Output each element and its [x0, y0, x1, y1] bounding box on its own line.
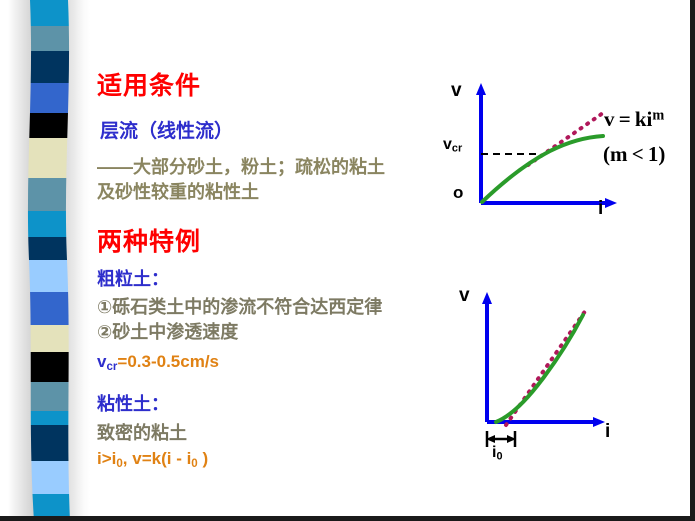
chart-laminar-origin-label: o	[453, 183, 463, 203]
chart-laminar-vcr-label: vcr	[443, 136, 462, 155]
chart-laminar-ylabel: v	[451, 80, 462, 102]
coarse-soil-item-2: ②砂土中渗透速度	[97, 318, 238, 344]
laminar-desc-line-1: ——大部分砂土，粉土；疏松的粘土	[97, 153, 385, 179]
chart-cohesive-ylabel: v	[459, 285, 470, 307]
chart-cohesive-x-axis-arrow	[593, 417, 605, 427]
formula-vcr-subscript: cr	[106, 361, 117, 373]
cohesive-soil-item: 致密的粘土	[97, 419, 187, 445]
chart-cohesive	[445, 280, 645, 455]
formula-vcr-number: =0.3-0.5cm/s	[117, 352, 219, 371]
vertical-color-stripe-band	[8, 0, 90, 521]
subheading-cohesive-soil: 粘性土：	[97, 390, 169, 416]
chart-cohesive-xlabel: i	[605, 421, 610, 443]
chart-laminar-x-axis-arrow	[605, 198, 617, 208]
chart-laminar-xlabel: i	[598, 198, 603, 220]
formula-i0-part-c: )	[198, 449, 208, 468]
chart-laminar-equation: v = kim	[604, 107, 664, 132]
formula-vcr-value: vcr=0.3-0.5cm/s	[97, 352, 219, 373]
formula-threshold-gradient: i>i0, v=k(i - i0 )	[97, 449, 208, 470]
chart-cohesive-y-axis-arrow	[482, 292, 492, 304]
formula-i0-part-a: i>i	[97, 449, 116, 468]
section-heading-laminar: 层流（线性流）	[100, 116, 233, 143]
section-heading-special-cases: 两种特例	[97, 222, 201, 258]
slide-canvas: 适用条件 层流（线性流） ——大部分砂土，粉土；疏松的粘土 及砂性较重的粘性土 …	[0, 0, 695, 521]
chart-cohesive-i0-label: i0	[492, 444, 503, 463]
chart-laminar-y-axis-arrow	[476, 83, 486, 95]
chart-laminar-flow-curve	[482, 136, 603, 202]
laminar-desc-line-2: 及砂性较重的粘性土	[97, 178, 259, 204]
coarse-soil-item-1: ①砾石类土中的渗流不符合达西定律	[97, 293, 382, 319]
formula-i0-part-b: , v=k(i - i	[123, 449, 192, 468]
subheading-coarse-soil: 粗粒土：	[97, 265, 169, 291]
chart-laminar-equation-condition: (m < 1)	[603, 142, 665, 167]
page-title: 适用条件	[97, 66, 201, 102]
